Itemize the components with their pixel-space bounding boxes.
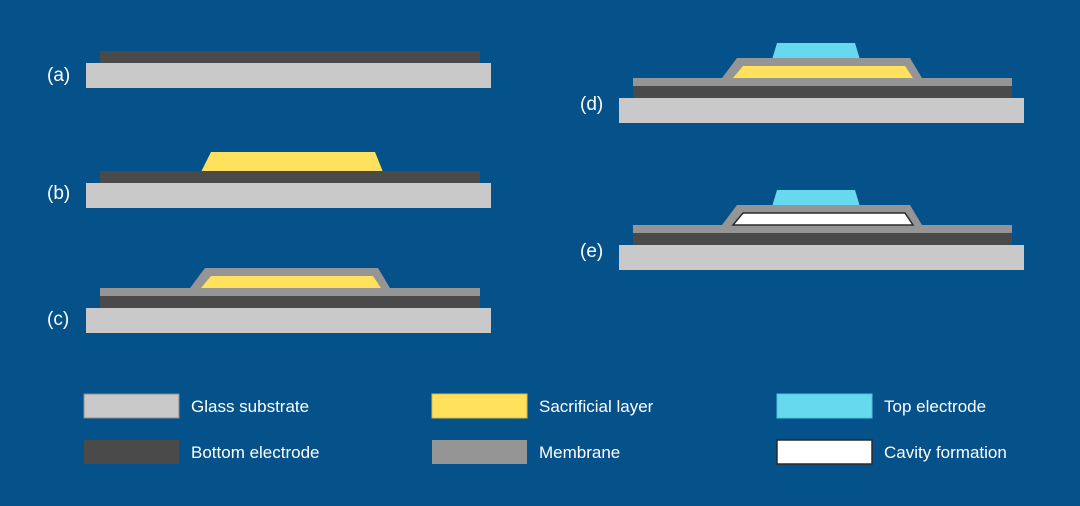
legend-item-sacrificial-layer: Sacrificial layer <box>432 394 654 418</box>
legend-label-top-electrode: Top electrode <box>884 397 986 416</box>
legend-swatch-bottom-electrode <box>84 440 179 464</box>
legend-swatch-top-electrode <box>777 394 872 418</box>
figure-root: (a) (b) (c) (d) <box>0 0 1080 506</box>
legend-item-membrane: Membrane <box>432 440 620 464</box>
legend-label-membrane: Membrane <box>539 443 620 462</box>
panel-b-sacrificial-layer <box>201 152 383 172</box>
panel-b-bottom-electrode <box>100 171 480 183</box>
legend-swatch-sacrificial-layer <box>432 394 527 418</box>
panel-a-label: (a) <box>47 65 70 86</box>
panel-e-cavity-formation <box>733 213 913 225</box>
panel-e-label: (e) <box>580 241 603 262</box>
panel-d-label: (d) <box>580 94 603 115</box>
panel-a-bottom-electrode <box>100 51 480 63</box>
legend-swatch-cavity-formation <box>777 440 872 464</box>
panel-c-label: (c) <box>47 309 69 330</box>
process-flow-diagram: (a) (b) (c) (d) <box>0 0 1080 506</box>
legend-label-glass-substrate: Glass substrate <box>191 397 309 416</box>
panel-c-glass-substrate <box>86 308 491 333</box>
panel-d-sacrificial-layer <box>733 66 913 78</box>
panel-d-glass-substrate <box>619 98 1024 123</box>
panel-c-bottom-electrode <box>100 296 480 308</box>
panel-a-glass-substrate <box>86 63 491 88</box>
legend-swatch-glass-substrate <box>84 394 179 418</box>
legend-swatch-membrane <box>432 440 527 464</box>
legend-item-bottom-electrode: Bottom electrode <box>84 440 320 464</box>
panel-d-bottom-electrode <box>633 86 1012 98</box>
panel-b-glass-substrate <box>86 183 491 208</box>
panel-a: (a) <box>47 51 491 88</box>
legend-label-bottom-electrode: Bottom electrode <box>191 443 320 462</box>
panel-e-glass-substrate <box>619 245 1024 270</box>
legend-label-sacrificial-layer: Sacrificial layer <box>539 397 654 416</box>
panel-b-label: (b) <box>47 183 70 204</box>
panel-e-bottom-electrode <box>633 233 1012 245</box>
legend-label-cavity-formation: Cavity formation <box>884 443 1007 462</box>
panel-c-sacrificial-layer <box>201 276 381 288</box>
legend-item-cavity-formation: Cavity formation <box>777 440 1007 464</box>
legend-item-glass-substrate: Glass substrate <box>84 394 309 418</box>
